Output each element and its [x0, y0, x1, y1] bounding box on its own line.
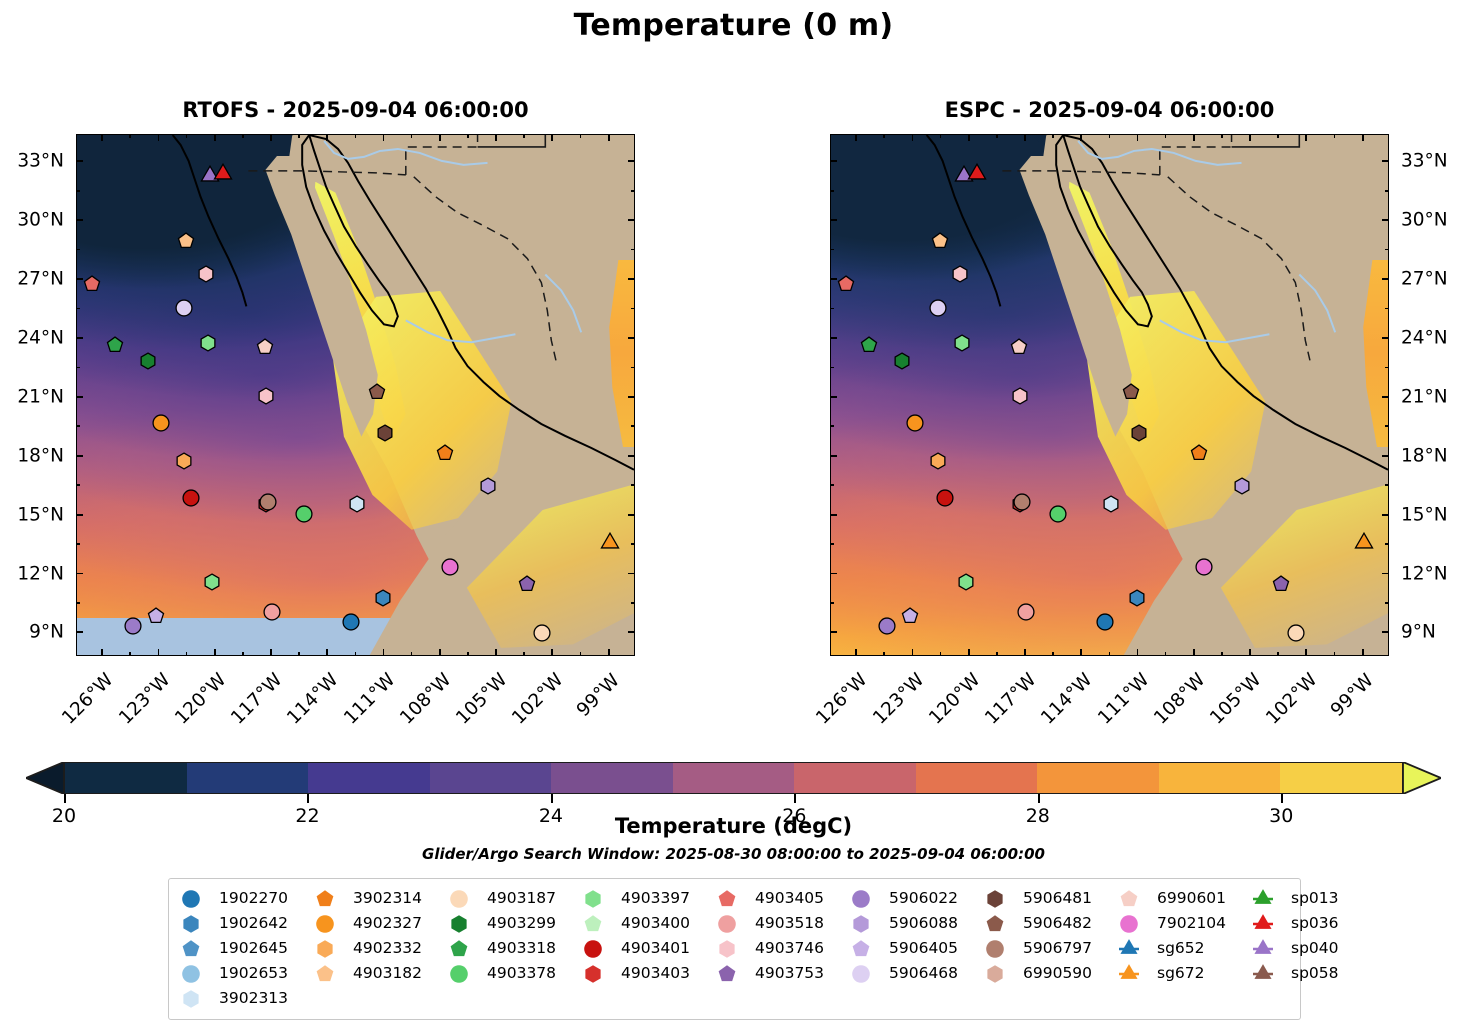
lat-minor-tick [830, 367, 834, 369]
lon-tick-label: 123°W [115, 670, 174, 729]
legend-item-label: 6990590 [1023, 966, 1092, 982]
lon-tick [214, 134, 216, 141]
legend-marker-icon [181, 989, 211, 1009]
lat-minor-tick [76, 425, 80, 427]
map-marker[interactable] [878, 617, 896, 635]
lon-minor-tick [1277, 652, 1279, 656]
legend-marker-icon [315, 939, 345, 959]
map-marker[interactable] [1287, 624, 1305, 642]
lat-tick [1382, 573, 1389, 575]
legend-item-label: 5906022 [889, 891, 958, 907]
legend-item-label: 1902642 [219, 916, 288, 932]
map-marker[interactable] [348, 495, 366, 513]
legend-item-label: 4903400 [621, 916, 690, 932]
legend-item-label: 4903378 [487, 966, 556, 982]
legend-item-label: 4903182 [353, 966, 422, 982]
legend-item[interactable]: 4903746 [717, 938, 851, 960]
map-marker[interactable] [213, 164, 233, 184]
lon-minor-tick [1277, 134, 1279, 138]
lat-tick [76, 160, 83, 162]
legend-marker-icon [315, 914, 345, 934]
legend-marker-icon [985, 914, 1015, 934]
lat-tick [628, 514, 635, 516]
map-marker[interactable] [1017, 603, 1035, 621]
legend-item-label: 4903518 [755, 916, 824, 932]
legend-item[interactable]: 1902645 [181, 938, 315, 960]
legend-marker-icon [985, 964, 1015, 984]
map-marker[interactable] [1128, 589, 1146, 607]
map-marker[interactable] [197, 265, 215, 283]
lon-tick [1137, 134, 1139, 141]
map-marker[interactable] [600, 533, 620, 553]
colorbar-band-5 [673, 763, 795, 793]
map-marker[interactable] [147, 607, 165, 625]
colorbar-band-9 [1159, 763, 1281, 793]
lat-minor-tick [631, 249, 635, 251]
lon-tick [326, 649, 328, 656]
legend-item-label: 4903299 [487, 916, 556, 932]
map-marker[interactable] [1102, 495, 1120, 513]
lon-tick-label: 108°W [396, 670, 455, 729]
legend-item[interactable]: 5906088 [851, 913, 985, 935]
lat-tick [628, 396, 635, 398]
panel-rtofs: RTOFS - 2025-09-04 06:00:00 [76, 134, 635, 656]
lat-tick [1382, 219, 1389, 221]
panel-espc: ESPC - 2025-09-04 06:00:00 [830, 134, 1389, 656]
lat-minor-tick [631, 425, 635, 427]
legend-item-label: 5906481 [1023, 891, 1092, 907]
lat-minor-tick [830, 484, 834, 486]
legend-item-label: 4903401 [621, 941, 690, 957]
legend-item[interactable]: 5906481 [985, 888, 1119, 910]
search-window-subtitle: Glider/Argo Search Window: 2025-08-30 08… [0, 845, 1467, 863]
map-marker[interactable] [1190, 444, 1208, 462]
legend-item[interactable]: 6990601 [1119, 888, 1253, 910]
panel-title-espc: ESPC - 2025-09-04 06:00:00 [830, 98, 1389, 122]
map-marker[interactable] [175, 299, 193, 317]
lat-tick [76, 278, 83, 280]
colorbar-gradient [64, 762, 1403, 794]
lat-tick [628, 160, 635, 162]
legend-marker-icon [1119, 889, 1149, 909]
lon-tick-label: 117°W [227, 670, 286, 729]
legend-item-label: 4903397 [621, 891, 690, 907]
lon-tick [855, 649, 857, 656]
lon-minor-tick [186, 652, 188, 656]
map-marker[interactable] [1010, 338, 1028, 356]
lon-minor-tick [467, 652, 469, 656]
lat-tick [76, 396, 83, 398]
lon-tick [158, 134, 160, 141]
map-marker[interactable] [1272, 575, 1290, 593]
legend-item[interactable]: 4903753 [717, 963, 851, 985]
legend-marker-icon [315, 964, 345, 984]
lon-minor-tick [940, 652, 942, 656]
map-marker[interactable] [139, 352, 157, 370]
legend-item[interactable]: sg652 [1119, 938, 1253, 960]
map-marker[interactable] [152, 414, 170, 432]
legend-item[interactable]: 4903403 [583, 963, 717, 985]
legend-item[interactable]: 4903182 [315, 963, 449, 985]
legend-item[interactable]: 4903405 [717, 888, 851, 910]
lon-tick [439, 649, 441, 656]
lat-minor-tick [631, 484, 635, 486]
map-marker[interactable] [259, 493, 277, 511]
map-marker[interactable] [83, 275, 101, 293]
lon-tick [439, 134, 441, 141]
lon-minor-tick [411, 134, 413, 138]
legend-marker-icon [1119, 914, 1149, 934]
map-marker[interactable] [1195, 558, 1213, 576]
map-espc[interactable] [830, 134, 1389, 656]
lon-tick-label: 105°W [1206, 670, 1265, 729]
lon-minor-tick [1165, 652, 1167, 656]
map-marker[interactable] [441, 558, 459, 576]
panel-title-rtofs: RTOFS - 2025-09-04 06:00:00 [76, 98, 635, 122]
map-marker[interactable] [257, 387, 275, 405]
legend-marker-icon [985, 939, 1015, 959]
lat-minor-tick [76, 543, 80, 545]
lon-tick [912, 649, 914, 656]
colorbar: 202224262830 [26, 762, 1441, 794]
lon-tick [270, 134, 272, 141]
colorbar-tick [551, 794, 553, 803]
rivers [831, 135, 1388, 655]
lon-minor-tick [1221, 134, 1223, 138]
legend-marker-icon [717, 914, 747, 934]
lat-minor-tick [830, 249, 834, 251]
legend-item-label: 4903318 [487, 941, 556, 957]
lon-tick [912, 134, 914, 141]
colorbar-band-3 [430, 763, 552, 793]
legend-item[interactable]: 4903378 [449, 963, 583, 985]
legend-marker-icon [1253, 914, 1283, 934]
map-marker[interactable] [1354, 533, 1374, 553]
map-marker[interactable] [106, 336, 124, 354]
colorbar-title: Temperature (degC) [0, 814, 1467, 838]
map-marker[interactable] [177, 232, 195, 250]
lon-tick-label: 99°W [1319, 670, 1378, 729]
lon-minor-tick [355, 652, 357, 656]
map-marker[interactable] [479, 477, 497, 495]
lat-tick [1382, 396, 1389, 398]
lon-minor-tick [940, 134, 942, 138]
lon-tick [1362, 134, 1364, 141]
map-marker[interactable] [1122, 383, 1140, 401]
lat-minor-tick [1385, 249, 1389, 251]
lat-tick [628, 573, 635, 575]
legend-marker-icon [851, 914, 881, 934]
legend-item-label: sp036 [1291, 916, 1339, 932]
legend-item[interactable]: 5906468 [851, 963, 985, 985]
map-marker[interactable] [436, 444, 454, 462]
lon-minor-tick [242, 652, 244, 656]
legend-item[interactable]: 1902642 [181, 913, 315, 935]
lon-tick [855, 134, 857, 141]
lon-minor-tick [580, 652, 582, 656]
map-marker[interactable] [182, 489, 200, 507]
colorbar-band-0 [65, 763, 187, 793]
legend-item[interactable]: 1902653 [181, 963, 315, 985]
lat-tick [1382, 631, 1389, 633]
lat-tick [830, 573, 837, 575]
map-marker[interactable] [953, 334, 971, 352]
lon-tick [101, 649, 103, 656]
legend-item[interactable]: 6990590 [985, 963, 1119, 985]
legend-marker-icon [449, 964, 479, 984]
legend-marker-icon [985, 889, 1015, 909]
lat-minor-tick [76, 367, 80, 369]
lon-tick-label: 126°W [812, 670, 871, 729]
legend-item-label: 5906405 [889, 941, 958, 957]
legend-item[interactable]: 4903518 [717, 913, 851, 935]
legend-column: 4903405490351849037464903753 [717, 888, 851, 1010]
lon-tick [1193, 134, 1195, 141]
map-rtofs[interactable] [76, 134, 635, 656]
lon-minor-tick [298, 652, 300, 656]
legend-item[interactable]: 5906797 [985, 938, 1119, 960]
lon-minor-tick [996, 134, 998, 138]
legend-item-label: 7902104 [1157, 916, 1226, 932]
map-marker[interactable] [199, 334, 217, 352]
map-marker[interactable] [929, 452, 947, 470]
legend-item-label: 5906088 [889, 916, 958, 932]
lon-minor-tick [580, 134, 582, 138]
legend-column: sp013sp036sp040sp058 [1253, 888, 1403, 1010]
lon-minor-tick [467, 134, 469, 138]
lon-minor-tick [883, 652, 885, 656]
map-marker[interactable] [1096, 613, 1114, 631]
lat-tick [830, 160, 837, 162]
map-marker[interactable] [175, 452, 193, 470]
legend-item[interactable]: 5906482 [985, 913, 1119, 935]
lat-tick-label: 9°N [29, 622, 64, 643]
legend-marker-icon [449, 914, 479, 934]
lat-minor-tick [830, 425, 834, 427]
legend-item-label: 4903405 [755, 891, 824, 907]
legend-item[interactable]: 4903397 [583, 888, 717, 910]
legend-column: 19022701902642190264519026533902313 [181, 888, 315, 1010]
lon-minor-tick [883, 134, 885, 138]
lon-minor-tick [523, 652, 525, 656]
legend-item[interactable]: 4902327 [315, 913, 449, 935]
legend-marker-icon [315, 889, 345, 909]
lon-minor-tick [1052, 134, 1054, 138]
lat-minor-tick [830, 190, 834, 192]
legend-item[interactable]: sp036 [1253, 913, 1403, 935]
lat-minor-tick [1385, 367, 1389, 369]
lat-minor-tick [1385, 543, 1389, 545]
lat-minor-tick [830, 543, 834, 545]
lat-tick-label: 9°N [1401, 622, 1436, 643]
lon-minor-tick [1221, 652, 1223, 656]
legend-marker-icon [449, 889, 479, 909]
legend-item[interactable]: 1902270 [181, 888, 315, 910]
lon-tick-label: 102°W [509, 670, 568, 729]
lon-minor-tick [996, 652, 998, 656]
lat-tick-label: 12°N [17, 563, 64, 584]
map-marker[interactable] [1011, 387, 1029, 405]
lon-tick [1080, 134, 1082, 141]
lat-tick [1382, 160, 1389, 162]
lat-tick [830, 455, 837, 457]
legend-marker-icon [583, 964, 613, 984]
legend-item-label: 1902645 [219, 941, 288, 957]
colorbar-tick [794, 794, 796, 803]
lat-tick [1382, 514, 1389, 516]
legend-item[interactable]: 5906405 [851, 938, 985, 960]
lon-tick [214, 649, 216, 656]
lat-tick [76, 219, 83, 221]
lat-tick-label: 15°N [1401, 504, 1448, 525]
legend-item[interactable]: 4903318 [449, 938, 583, 960]
lat-tick [628, 219, 635, 221]
lon-minor-tick [298, 134, 300, 138]
map-marker[interactable] [533, 624, 551, 642]
lon-tick [968, 134, 970, 141]
map-marker[interactable] [893, 352, 911, 370]
map-marker[interactable] [376, 424, 394, 442]
map-marker[interactable] [906, 414, 924, 432]
lon-tick [383, 649, 385, 656]
legend: 1902270190264219026451902653390231339023… [168, 878, 1301, 1020]
lon-minor-tick [129, 134, 131, 138]
legend-item[interactable]: 4902332 [315, 938, 449, 960]
legend-item[interactable]: 4903400 [583, 913, 717, 935]
legend-marker-icon [181, 964, 211, 984]
lat-tick-label: 33°N [1401, 151, 1448, 172]
lat-tick-label: 30°N [17, 210, 64, 231]
legend-item-label: 1902653 [219, 966, 288, 982]
lat-minor-tick [76, 249, 80, 251]
lon-tick-label: 99°W [565, 670, 624, 729]
legend-item[interactable]: 5906022 [851, 888, 985, 910]
lat-tick [830, 278, 837, 280]
legend-marker-icon [1119, 939, 1149, 959]
lon-minor-tick [523, 134, 525, 138]
lat-minor-tick [631, 190, 635, 192]
lat-minor-tick [1385, 602, 1389, 604]
lat-tick-label: 18°N [17, 445, 64, 466]
legend-marker-icon [583, 914, 613, 934]
lat-tick [76, 514, 83, 516]
lat-tick [628, 337, 635, 339]
legend-item-label: sp058 [1291, 966, 1339, 982]
map-marker[interactable] [936, 489, 954, 507]
legend-item[interactable]: 3902313 [181, 988, 315, 1010]
lat-tick [76, 337, 83, 339]
lon-tick [158, 649, 160, 656]
lat-minor-tick [631, 543, 635, 545]
lon-minor-tick [355, 134, 357, 138]
legend-item-label: 4903753 [755, 966, 824, 982]
legend-item[interactable]: sp040 [1253, 938, 1403, 960]
legend-column: 4903397490340049034014903403 [583, 888, 717, 1010]
legend-column: 69906017902104sg652sg672 [1119, 888, 1253, 1010]
colorbar-band-6 [794, 763, 916, 793]
map-marker[interactable] [957, 573, 975, 591]
legend-item[interactable]: 3902314 [315, 888, 449, 910]
lon-tick-label: 111°W [340, 670, 399, 729]
lat-minor-tick [631, 308, 635, 310]
legend-marker-icon [717, 889, 747, 909]
colorbar-band-7 [916, 763, 1038, 793]
map-marker[interactable] [256, 338, 274, 356]
map-marker[interactable] [931, 232, 949, 250]
legend-item[interactable]: sp058 [1253, 963, 1403, 985]
lon-tick [1249, 134, 1251, 141]
lon-tick-label: 114°W [284, 670, 343, 729]
lon-tick [1080, 649, 1082, 656]
legend-item-label: 1902270 [219, 891, 288, 907]
legend-item[interactable]: 7902104 [1119, 913, 1253, 935]
legend-item[interactable]: 4903299 [449, 913, 583, 935]
legend-item[interactable]: sp013 [1253, 888, 1403, 910]
colorbar-band-8 [1037, 763, 1159, 793]
map-marker[interactable] [1049, 505, 1067, 523]
legend-item-label: sg652 [1157, 941, 1205, 957]
map-marker[interactable] [860, 336, 878, 354]
map-marker[interactable] [203, 573, 221, 591]
lat-tick-label: 21°N [17, 386, 64, 407]
colorbar-band-1 [187, 763, 309, 793]
map-marker[interactable] [929, 299, 947, 317]
map-marker[interactable] [518, 575, 536, 593]
legend-item[interactable]: 4903187 [449, 888, 583, 910]
legend-marker-icon [851, 964, 881, 984]
lat-minor-tick [76, 484, 80, 486]
map-marker[interactable] [368, 383, 386, 401]
legend-item[interactable]: 4903401 [583, 938, 717, 960]
map-marker[interactable] [967, 164, 987, 184]
colorbar-tick [1038, 794, 1040, 803]
map-marker[interactable] [1130, 424, 1148, 442]
lat-minor-tick [830, 602, 834, 604]
map-marker[interactable] [1233, 477, 1251, 495]
legend-item[interactable]: sg672 [1119, 963, 1253, 985]
lat-tick-label: 33°N [17, 151, 64, 172]
lat-tick [628, 455, 635, 457]
map-marker[interactable] [124, 617, 142, 635]
map-marker[interactable] [263, 603, 281, 621]
legend-column: 5906481590648259067976990590 [985, 888, 1119, 1010]
lat-tick [830, 396, 837, 398]
map-marker[interactable] [837, 275, 855, 293]
legend-item-label: 5906468 [889, 966, 958, 982]
map-marker[interactable] [374, 589, 392, 607]
map-marker[interactable] [951, 265, 969, 283]
lon-tick [495, 134, 497, 141]
map-marker[interactable] [342, 613, 360, 631]
map-marker[interactable] [295, 505, 313, 523]
lat-minor-tick [1385, 484, 1389, 486]
colorbar-band-10 [1280, 763, 1402, 793]
legend-item-label: sp040 [1291, 941, 1339, 957]
lon-tick-label: 114°W [1038, 670, 1097, 729]
lon-minor-tick [1165, 134, 1167, 138]
map-marker[interactable] [1013, 493, 1031, 511]
lon-tick [1305, 649, 1307, 656]
legend-marker-icon [717, 939, 747, 959]
lon-tick-label: 108°W [1150, 670, 1209, 729]
lat-tick [1382, 455, 1389, 457]
colorbar-extend-low [26, 762, 64, 794]
map-marker[interactable] [901, 607, 919, 625]
lat-tick [1382, 337, 1389, 339]
lat-tick-label: 30°N [1401, 210, 1448, 231]
lat-tick-label: 15°N [17, 504, 64, 525]
lat-tick-label: 24°N [1401, 328, 1448, 349]
